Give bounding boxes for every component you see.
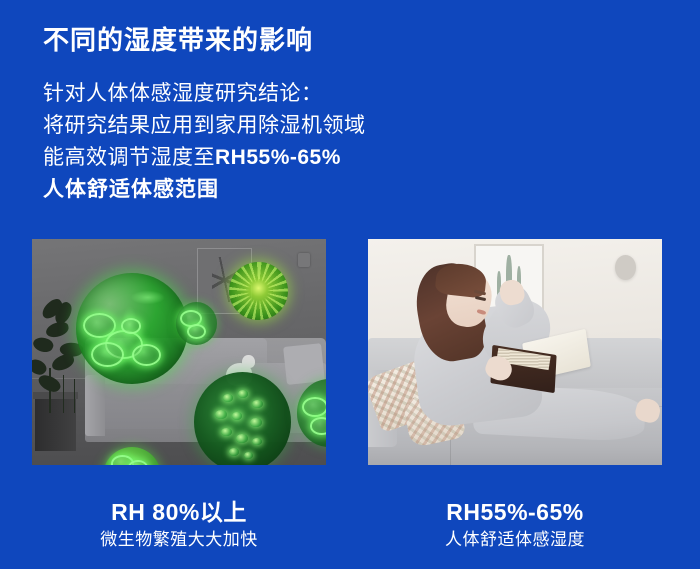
page-title: 不同的湿度带来的影响 [43,20,313,57]
bright-living-room-scene [368,239,662,465]
microbe-sphere-large [76,273,188,384]
wall-thermostat [298,253,310,268]
paragraph-line-2: 将研究结果应用到家用除湿机领域 [43,110,366,142]
microbe-sphere-dark [194,372,291,465]
comfort-humidity-photo [368,239,662,465]
paragraph-line-1: 针对人体体感湿度研究结论： [43,78,366,110]
paragraph-line-4: 人体舒适体感范围 [43,174,366,206]
caption-left: RH 80%以上 微生物繁殖大大加快 [32,498,326,552]
paragraph-line-3-highlight: RH55%-65% [215,146,341,169]
photo-panels [0,239,700,465]
sofa-cushion [283,343,325,385]
paragraph-line-3: 能高效调节湿度至RH55%-65% [43,142,366,174]
caption-right: RH55%-65% 人体舒适体感湿度 [368,498,662,552]
panel-captions: RH 80%以上 微生物繁殖大大加快 RH55%-65% 人体舒适体感湿度 [0,498,700,564]
dim-living-room-scene [32,239,326,465]
caption-left-title: RH 80%以上 [32,498,326,526]
intro-paragraph: 针对人体体感湿度研究结论： 将研究结果应用到家用除湿机领域 能高效调节湿度至RH… [43,78,366,206]
wall-sensor [615,255,636,280]
caption-right-subtitle: 人体舒适体感湿度 [368,528,662,552]
paragraph-line-3-prefix: 能高效调节湿度至 [43,146,215,169]
caption-left-subtitle: 微生物繁殖大大加快 [32,528,326,552]
caption-right-title: RH55%-65% [368,498,662,526]
microbe-sphere-bright [229,262,288,321]
high-humidity-photo [32,239,326,465]
